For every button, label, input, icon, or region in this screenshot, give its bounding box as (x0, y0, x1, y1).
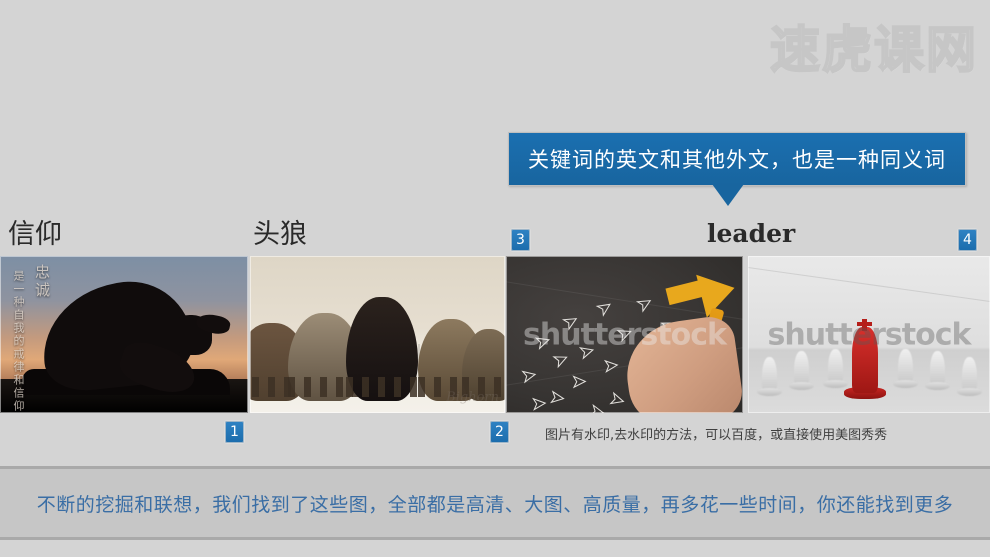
chalk-arrow-icon: ➤ (603, 357, 619, 375)
keyword-label-leader: leader (707, 219, 795, 248)
photo-caption-note: 图片有水印,去水印的方法，可以百度，或直接使用美图秀秀 (545, 424, 887, 443)
pawn-3 (828, 349, 843, 383)
chalk-arrow-icon: ➤ (588, 403, 605, 413)
badge-4: 4 (957, 228, 978, 252)
pawn-2 (794, 351, 809, 385)
wolf-legs (346, 377, 418, 397)
callout-pointer-icon (712, 184, 744, 206)
red-king-piece (852, 327, 878, 393)
chalk-arrow-icon: ➤ (531, 395, 547, 413)
site-watermark-logo: 速虎课网 (770, 10, 978, 82)
bottom-banner-text: 不断的挖掘和联想，我们找到了这些图，全部都是高清、大图、高质量，再多花一些时间，… (37, 490, 954, 517)
keyword-label-faith: 信仰 (8, 212, 62, 251)
photo-chalk-arrows: ➤➤➤➤➤➤➤➤➤➤➤➤➤➤➤➤➤➤➤➤ shutterstock (506, 256, 743, 413)
photo-overlay-subtitle: 是一种自我的戒律和信仰 (10, 270, 26, 413)
pawn-4 (898, 349, 913, 383)
bottom-banner: 不断的挖掘和联想，我们找到了这些图，全部都是高清、大图、高质量，再多花一些时间，… (0, 466, 990, 540)
slide-canvas: 速虎课网 关键词的英文和其他外文，也是一种同义词 信仰 头狼 leader 3 … (0, 0, 990, 557)
badge-2: 2 (489, 420, 510, 444)
pawn-5 (930, 351, 945, 385)
chalk-arrow-icon: ➤ (572, 374, 587, 391)
photo-silhouette: 忠诚 是一种自我的戒律和信仰 (0, 256, 248, 413)
photo-overlay-title: 忠诚 (32, 264, 53, 300)
badge-3: 3 (510, 228, 531, 252)
chalk-arrow-icon: ➤ (549, 389, 565, 408)
badge-1: 1 (224, 420, 245, 444)
callout-text: 关键词的英文和其他外文，也是一种同义词 (528, 144, 946, 174)
photo-chess-king: shutterstock (748, 256, 990, 413)
pawn-6 (962, 357, 977, 391)
callout-box: 关键词的英文和其他外文，也是一种同义词 (508, 132, 966, 186)
king-crown-icon (862, 319, 867, 331)
keyword-label-wolf: 头狼 (253, 212, 307, 251)
photo-wolf-pack: Bighorn (250, 256, 505, 413)
pawn-1 (762, 357, 777, 391)
photo-watermark: Bighorn (446, 390, 499, 405)
